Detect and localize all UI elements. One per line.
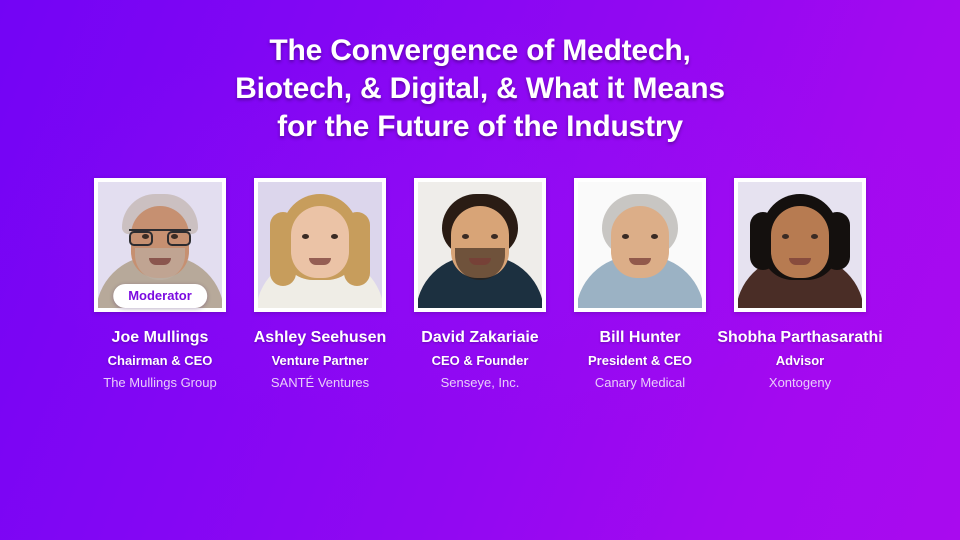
speaker-company: SANTÉ Ventures	[271, 375, 369, 391]
speaker-name: Shobha Parthasarathi	[717, 328, 882, 347]
speaker-photo-frame	[734, 178, 866, 312]
title-line-1: The Convergence of Medtech,	[0, 32, 960, 70]
speaker-card: Ashley SeehusenVenture PartnerSANTÉ Vent…	[253, 178, 387, 391]
speaker-company: The Mullings Group	[103, 375, 216, 391]
speaker-company: Senseye, Inc.	[441, 375, 520, 391]
speaker-name: Ashley Seehusen	[254, 328, 387, 347]
speaker-role: Advisor	[776, 353, 824, 369]
title-line-3: for the Future of the Industry	[0, 108, 960, 146]
speaker-photo-wrap	[734, 178, 866, 312]
title-line-2: Biotech, & Digital, & What it Means	[0, 70, 960, 108]
portrait-bill-hunter	[578, 182, 702, 308]
speaker-card: ModeratorJoe MullingsChairman & CEOThe M…	[93, 178, 227, 391]
speaker-photo-wrap	[414, 178, 546, 312]
speaker-company: Xontogeny	[769, 375, 831, 391]
speaker-company: Canary Medical	[595, 375, 685, 391]
speaker-photo-frame	[254, 178, 386, 312]
presentation-slide: The Convergence of Medtech, Biotech, & D…	[0, 0, 960, 540]
page-title: The Convergence of Medtech, Biotech, & D…	[0, 32, 960, 146]
speaker-photo-wrap	[574, 178, 706, 312]
speaker-role: President & CEO	[588, 353, 692, 369]
portrait-shobha-parthasarathi	[738, 182, 862, 308]
speaker-name: Joe Mullings	[112, 328, 209, 347]
speaker-card: David ZakariaieCEO & FounderSenseye, Inc…	[413, 178, 547, 391]
portrait-david-zakariaie	[418, 182, 542, 308]
speaker-role: Venture Partner	[272, 353, 369, 369]
speaker-photo-wrap	[254, 178, 386, 312]
speaker-card: Bill HunterPresident & CEOCanary Medical	[573, 178, 707, 391]
speaker-photo-frame	[414, 178, 546, 312]
speaker-photo-wrap: Moderator	[94, 178, 226, 312]
speaker-name: David Zakariaie	[421, 328, 538, 347]
speaker-list: ModeratorJoe MullingsChairman & CEOThe M…	[0, 178, 960, 391]
speaker-role: CEO & Founder	[432, 353, 529, 369]
speaker-role: Chairman & CEO	[108, 353, 213, 369]
speaker-name: Bill Hunter	[600, 328, 681, 347]
speaker-photo-frame	[574, 178, 706, 312]
speaker-card: Shobha ParthasarathiAdvisorXontogeny	[733, 178, 867, 391]
moderator-badge: Moderator	[113, 284, 207, 308]
portrait-ashley-seehusen	[258, 182, 382, 308]
